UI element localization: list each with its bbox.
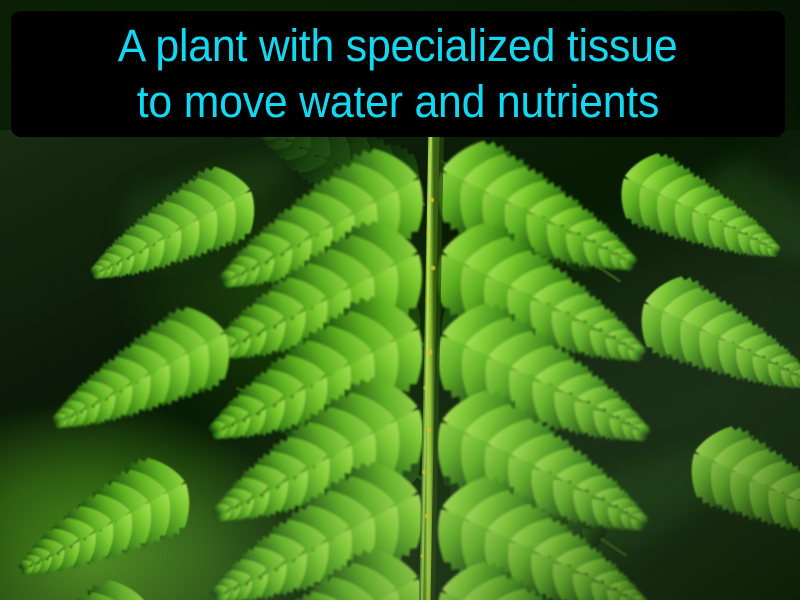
caption-line-1: A plant with specialized tissue [118, 18, 678, 74]
caption-line-2: to move water and nutrients [137, 74, 659, 130]
screenshot-canvas: A plant with specialized tissue to move … [0, 0, 800, 600]
caption-banner: A plant with specialized tissue to move … [11, 11, 785, 137]
